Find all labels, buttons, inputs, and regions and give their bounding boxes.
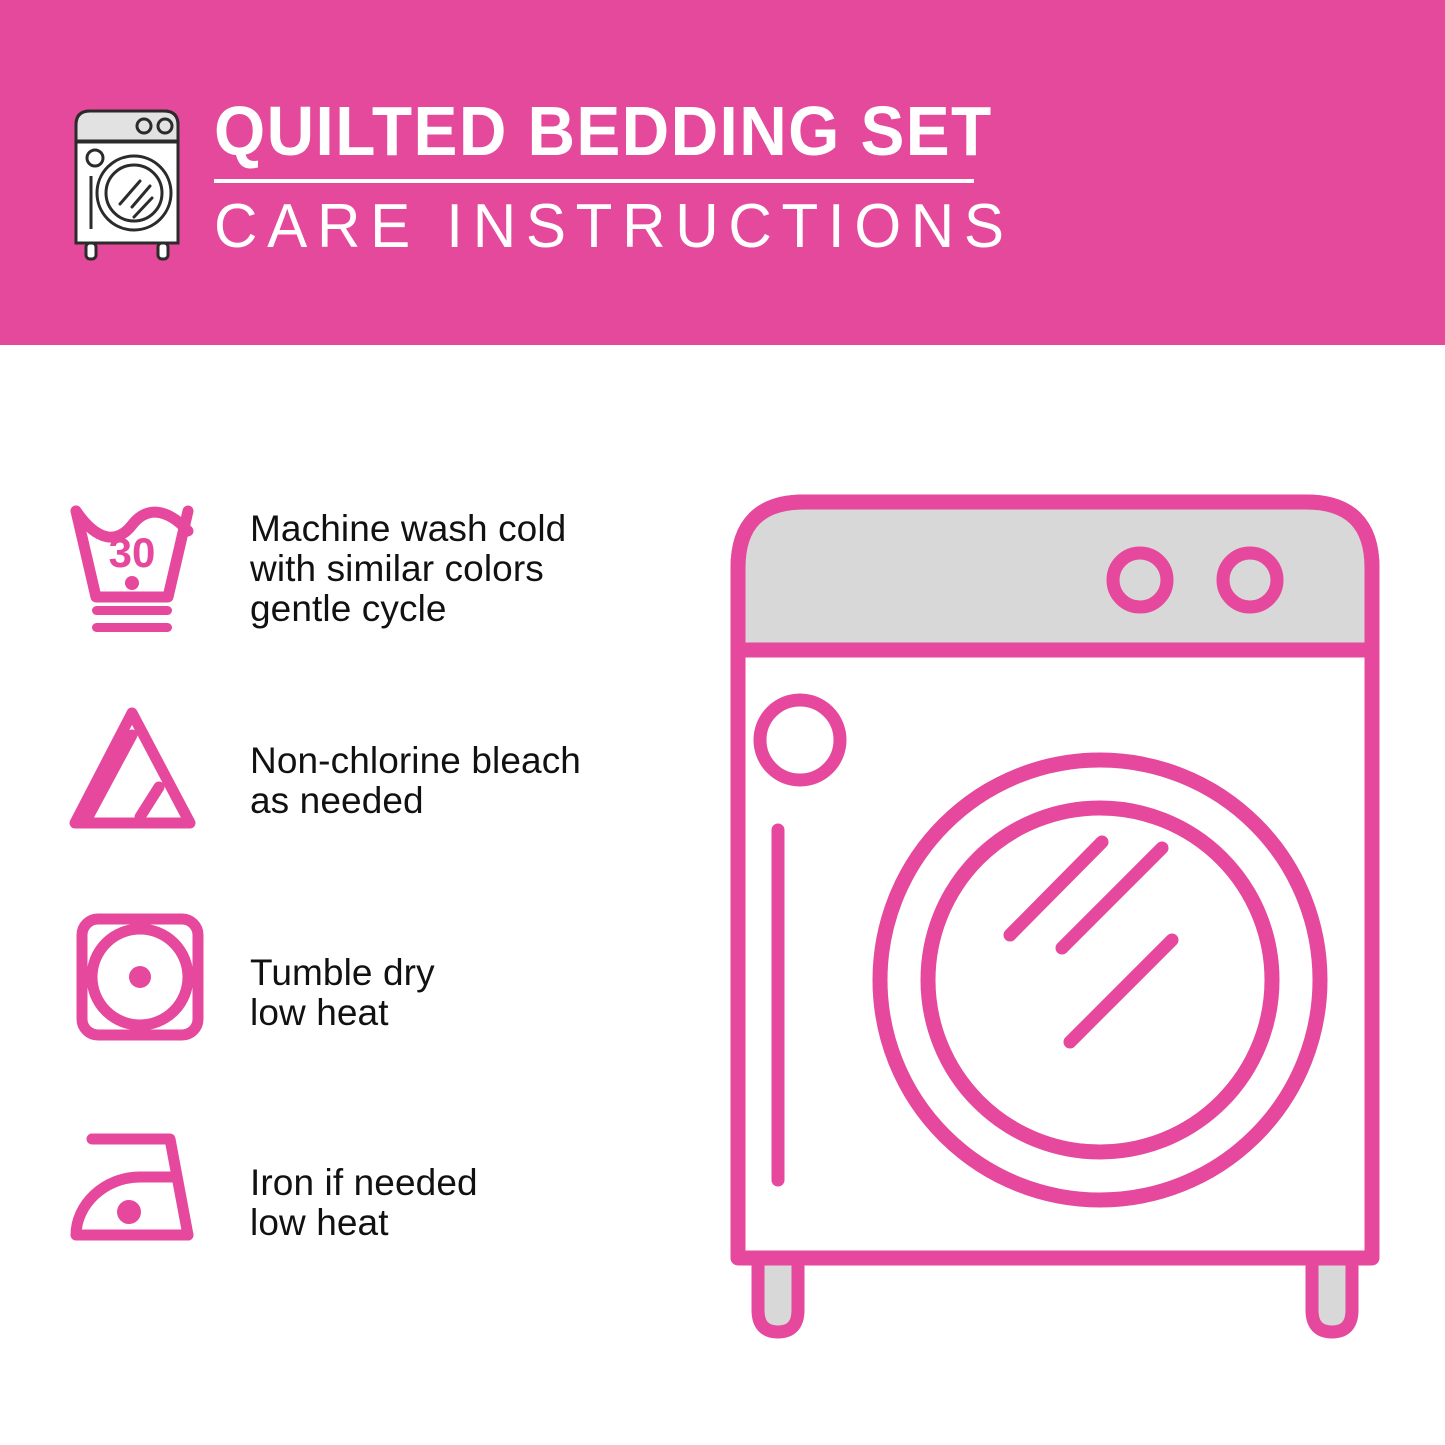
care-label-line: Iron if needed	[250, 1163, 478, 1203]
care-label-tumble-dry: Tumble dry low heat	[250, 953, 435, 1033]
washer-knob-right	[1223, 553, 1277, 607]
header-content: QUILTED BEDDING SET CARE INSTRUCTIONS	[62, 95, 1042, 261]
care-label-bleach: Non-chlorine bleach as needed	[250, 741, 581, 821]
front-load-washing-machine-illustration	[710, 480, 1410, 1370]
care-label-line: with similar colors	[250, 549, 566, 589]
non-chlorine-bleach-triangle-icon	[62, 695, 232, 855]
care-label-line: Machine wash cold	[250, 509, 566, 549]
header-banner: QUILTED BEDDING SET CARE INSTRUCTIONS	[0, 0, 1445, 345]
tumble-dry-low-icon	[62, 905, 232, 1065]
care-label-line: low heat	[250, 993, 435, 1033]
care-label-line: as needed	[250, 781, 581, 821]
washer-knob-left	[1113, 553, 1167, 607]
care-row-iron: Iron if needed low heat	[62, 1115, 702, 1325]
header-title-block: QUILTED BEDDING SET CARE INSTRUCTIONS	[214, 95, 1042, 261]
care-row-tumble-dry: Tumble dry low heat	[62, 905, 702, 1115]
title-divider	[214, 179, 974, 183]
care-instruction-list: 30 Machine wash cold with similar colors…	[62, 485, 702, 1325]
care-row-machine-wash: 30 Machine wash cold with similar colors…	[62, 485, 702, 695]
care-label-line: low heat	[250, 1203, 478, 1243]
care-label-line: Non-chlorine bleach	[250, 741, 581, 781]
page-title: QUILTED BEDDING SET	[214, 95, 993, 167]
page-subtitle: CARE INSTRUCTIONS	[214, 193, 1017, 261]
care-label-machine-wash: Machine wash cold with similar colors ge…	[250, 509, 566, 629]
iron-low-heat-icon	[62, 1115, 232, 1275]
wash-tub-30-icon: 30	[62, 485, 232, 645]
care-label-iron: Iron if needed low heat	[250, 1163, 478, 1243]
care-instructions-page: QUILTED BEDDING SET CARE INSTRUCTIONS 30	[0, 0, 1445, 1445]
care-label-line: Tumble dry	[250, 953, 435, 993]
wash-temperature-label: 30	[109, 529, 156, 576]
care-row-bleach: Non-chlorine bleach as needed	[62, 695, 702, 905]
care-label-line: gentle cycle	[250, 589, 566, 629]
washing-machine-icon	[62, 101, 192, 261]
